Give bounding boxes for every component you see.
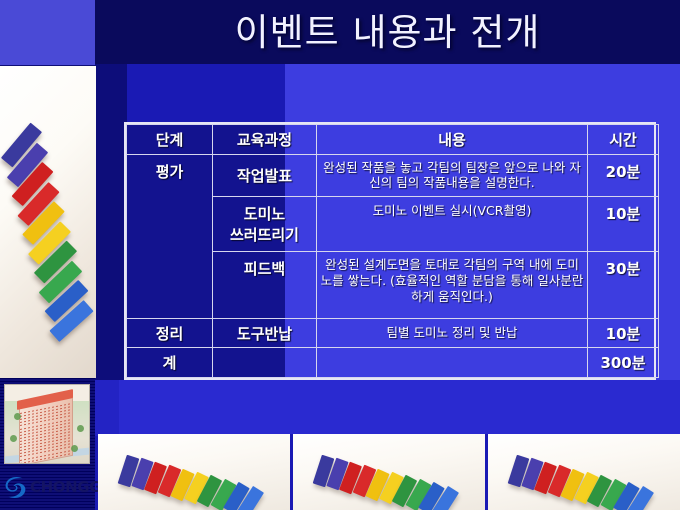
strip-photo-1 bbox=[98, 434, 290, 510]
cell-content-presentation: 완성된 작품을 놓고 각팀의 팀장은 앞으로 나와 자신의 팀의 작품내용을 설… bbox=[317, 154, 588, 196]
chonggu-logo: CHONGGU bbox=[4, 470, 104, 504]
decorative-rail-step bbox=[95, 380, 119, 436]
cell-time-return-tools: 10분 bbox=[588, 318, 659, 348]
table-row: 평가 작업발표 완성된 작품을 놓고 각팀의 팀장은 앞으로 나와 자신의 팀의… bbox=[127, 154, 659, 196]
column-header-stage: 단계 bbox=[127, 125, 213, 155]
cell-content-total bbox=[317, 348, 588, 378]
cell-time-feedback: 30분 bbox=[588, 252, 659, 318]
falling-dominoes-photo bbox=[0, 66, 96, 378]
decorative-left-rail bbox=[95, 64, 127, 380]
column-header-course: 교육과정 bbox=[213, 125, 317, 155]
photo-tree bbox=[77, 425, 84, 432]
strip-photo-3 bbox=[488, 434, 680, 510]
cell-course-presentation: 작업발표 bbox=[213, 154, 317, 196]
cell-course-domino-toppling: 도미노쓰러뜨리기 bbox=[213, 196, 317, 252]
cell-content-feedback: 완성된 설계도면을 토대로 각팀의 구역 내에 도미노를 쌓는다. (효율적인 … bbox=[317, 252, 588, 318]
page-title: 이벤트 내용과 전개 bbox=[235, 14, 541, 51]
strip-photo-2 bbox=[293, 434, 485, 510]
apartment-complex-photo bbox=[4, 384, 90, 464]
cell-course-return-tools: 도구반납 bbox=[213, 318, 317, 348]
background-lower-panel bbox=[95, 380, 680, 434]
photo-tree bbox=[71, 445, 78, 452]
cell-time-domino-toppling: 10분 bbox=[588, 196, 659, 252]
table-row-total: 계 300분 bbox=[127, 348, 659, 378]
cell-content-domino-toppling: 도미노 이벤트 실시(VCR촬영) bbox=[317, 196, 588, 252]
cell-time-total: 300분 bbox=[588, 348, 659, 378]
decorative-corner-block bbox=[0, 0, 95, 65]
slide-canvas: 이벤트 내용과 전개 CHONGGU bbox=[0, 0, 680, 510]
cell-stage-total: 계 bbox=[127, 348, 213, 378]
cell-time-presentation: 20분 bbox=[588, 154, 659, 196]
cell-course-feedback: 피드백 bbox=[213, 252, 317, 318]
cell-content-return-tools: 팀별 도미노 정리 및 반납 bbox=[317, 318, 588, 348]
cell-stage-cleanup: 정리 bbox=[127, 318, 213, 348]
table-row: 정리 도구반납 팀별 도미노 정리 및 반납 10분 bbox=[127, 318, 659, 348]
photo-tree bbox=[14, 413, 21, 420]
photo-tree bbox=[10, 435, 17, 442]
swirl-icon bbox=[4, 475, 27, 500]
column-header-content: 내용 bbox=[317, 125, 588, 155]
column-header-time: 시간 bbox=[588, 125, 659, 155]
table-header-row: 단계 교육과정 내용 시간 bbox=[127, 125, 659, 155]
event-schedule-table: 단계 교육과정 내용 시간 평가 작업발표 완성된 작품을 놓고 각팀의 팀장은… bbox=[124, 122, 656, 380]
title-bar: 이벤트 내용과 전개 bbox=[95, 0, 680, 64]
cell-course-total bbox=[213, 348, 317, 378]
cell-stage-evaluation: 평가 bbox=[127, 154, 213, 318]
